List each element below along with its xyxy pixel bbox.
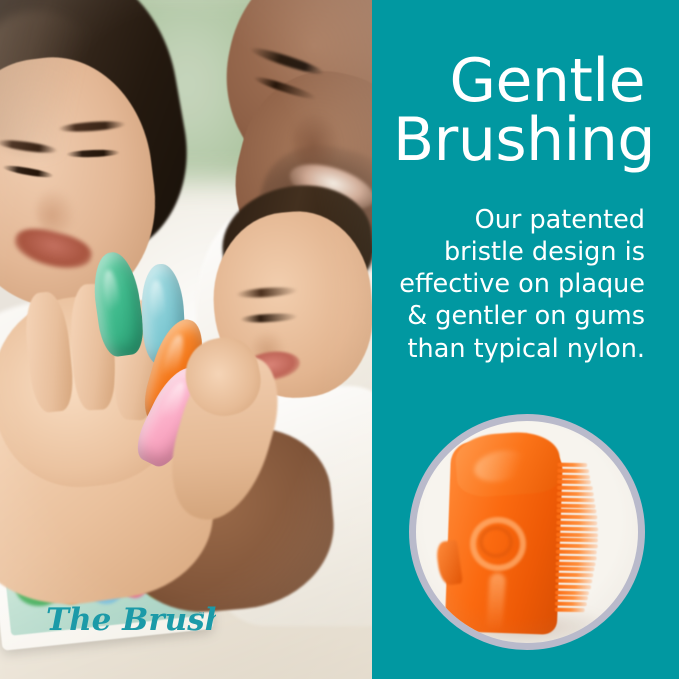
product-bristle: [556, 550, 597, 555]
product-bristle: [556, 555, 597, 560]
product-bristle: [555, 590, 589, 595]
brand-logo: The Brushies ™: [46, 598, 216, 644]
product-bristle: [557, 480, 591, 485]
product-bristle: [556, 532, 598, 537]
product-bristle: [556, 544, 598, 549]
product-bristle: [555, 579, 592, 584]
brand-logo-trademark: ™: [198, 611, 206, 620]
product-bristle: [557, 474, 590, 479]
mother-nose: [36, 188, 76, 234]
product-bristle: [555, 602, 587, 607]
product-bristle: [556, 526, 598, 531]
product-inner-ring-detail: [479, 526, 513, 558]
product-bristle: [555, 596, 588, 601]
product-bristle: [557, 497, 595, 502]
product-bristle: [555, 608, 585, 613]
headline-line-2: Brushing: [393, 111, 645, 170]
marketing-poster: The Brushies ™ Gentle Brushing Our paten…: [0, 0, 679, 679]
body-line-4: & gentler on gums: [383, 300, 645, 332]
product-bristles: [555, 463, 600, 616]
product-bristle: [557, 486, 593, 491]
headline-line-1: Gentle: [393, 52, 645, 111]
product-bristle: [556, 538, 598, 543]
product-inset-circle: [409, 414, 645, 650]
photo-scene: [0, 0, 372, 679]
product-bristle: [556, 515, 597, 520]
father-nose: [292, 112, 340, 172]
body-copy: Our patented bristle design is effective…: [383, 204, 645, 365]
product-bristle: [556, 521, 597, 526]
brand-logo-text: The Brushies: [46, 602, 216, 638]
product-bristle: [557, 503, 596, 508]
product-bristle: [557, 492, 594, 497]
body-line-2: bristle design is: [383, 236, 645, 268]
product-bristle: [556, 509, 596, 514]
body-line-1: Our patented: [383, 204, 645, 236]
product-bristle: [557, 463, 587, 468]
product-photo: [416, 421, 638, 643]
lifestyle-photo: The Brushies ™: [0, 0, 372, 679]
product-bristle: [557, 468, 589, 473]
product-bristle: [556, 561, 596, 566]
product-bristle: [555, 584, 591, 589]
page-title: Gentle Brushing: [393, 52, 645, 171]
product-bristle: [555, 573, 593, 578]
product-bristle: [555, 567, 594, 572]
body-line-5: than typical nylon.: [383, 333, 645, 365]
body-line-3: effective on plaque: [383, 268, 645, 300]
